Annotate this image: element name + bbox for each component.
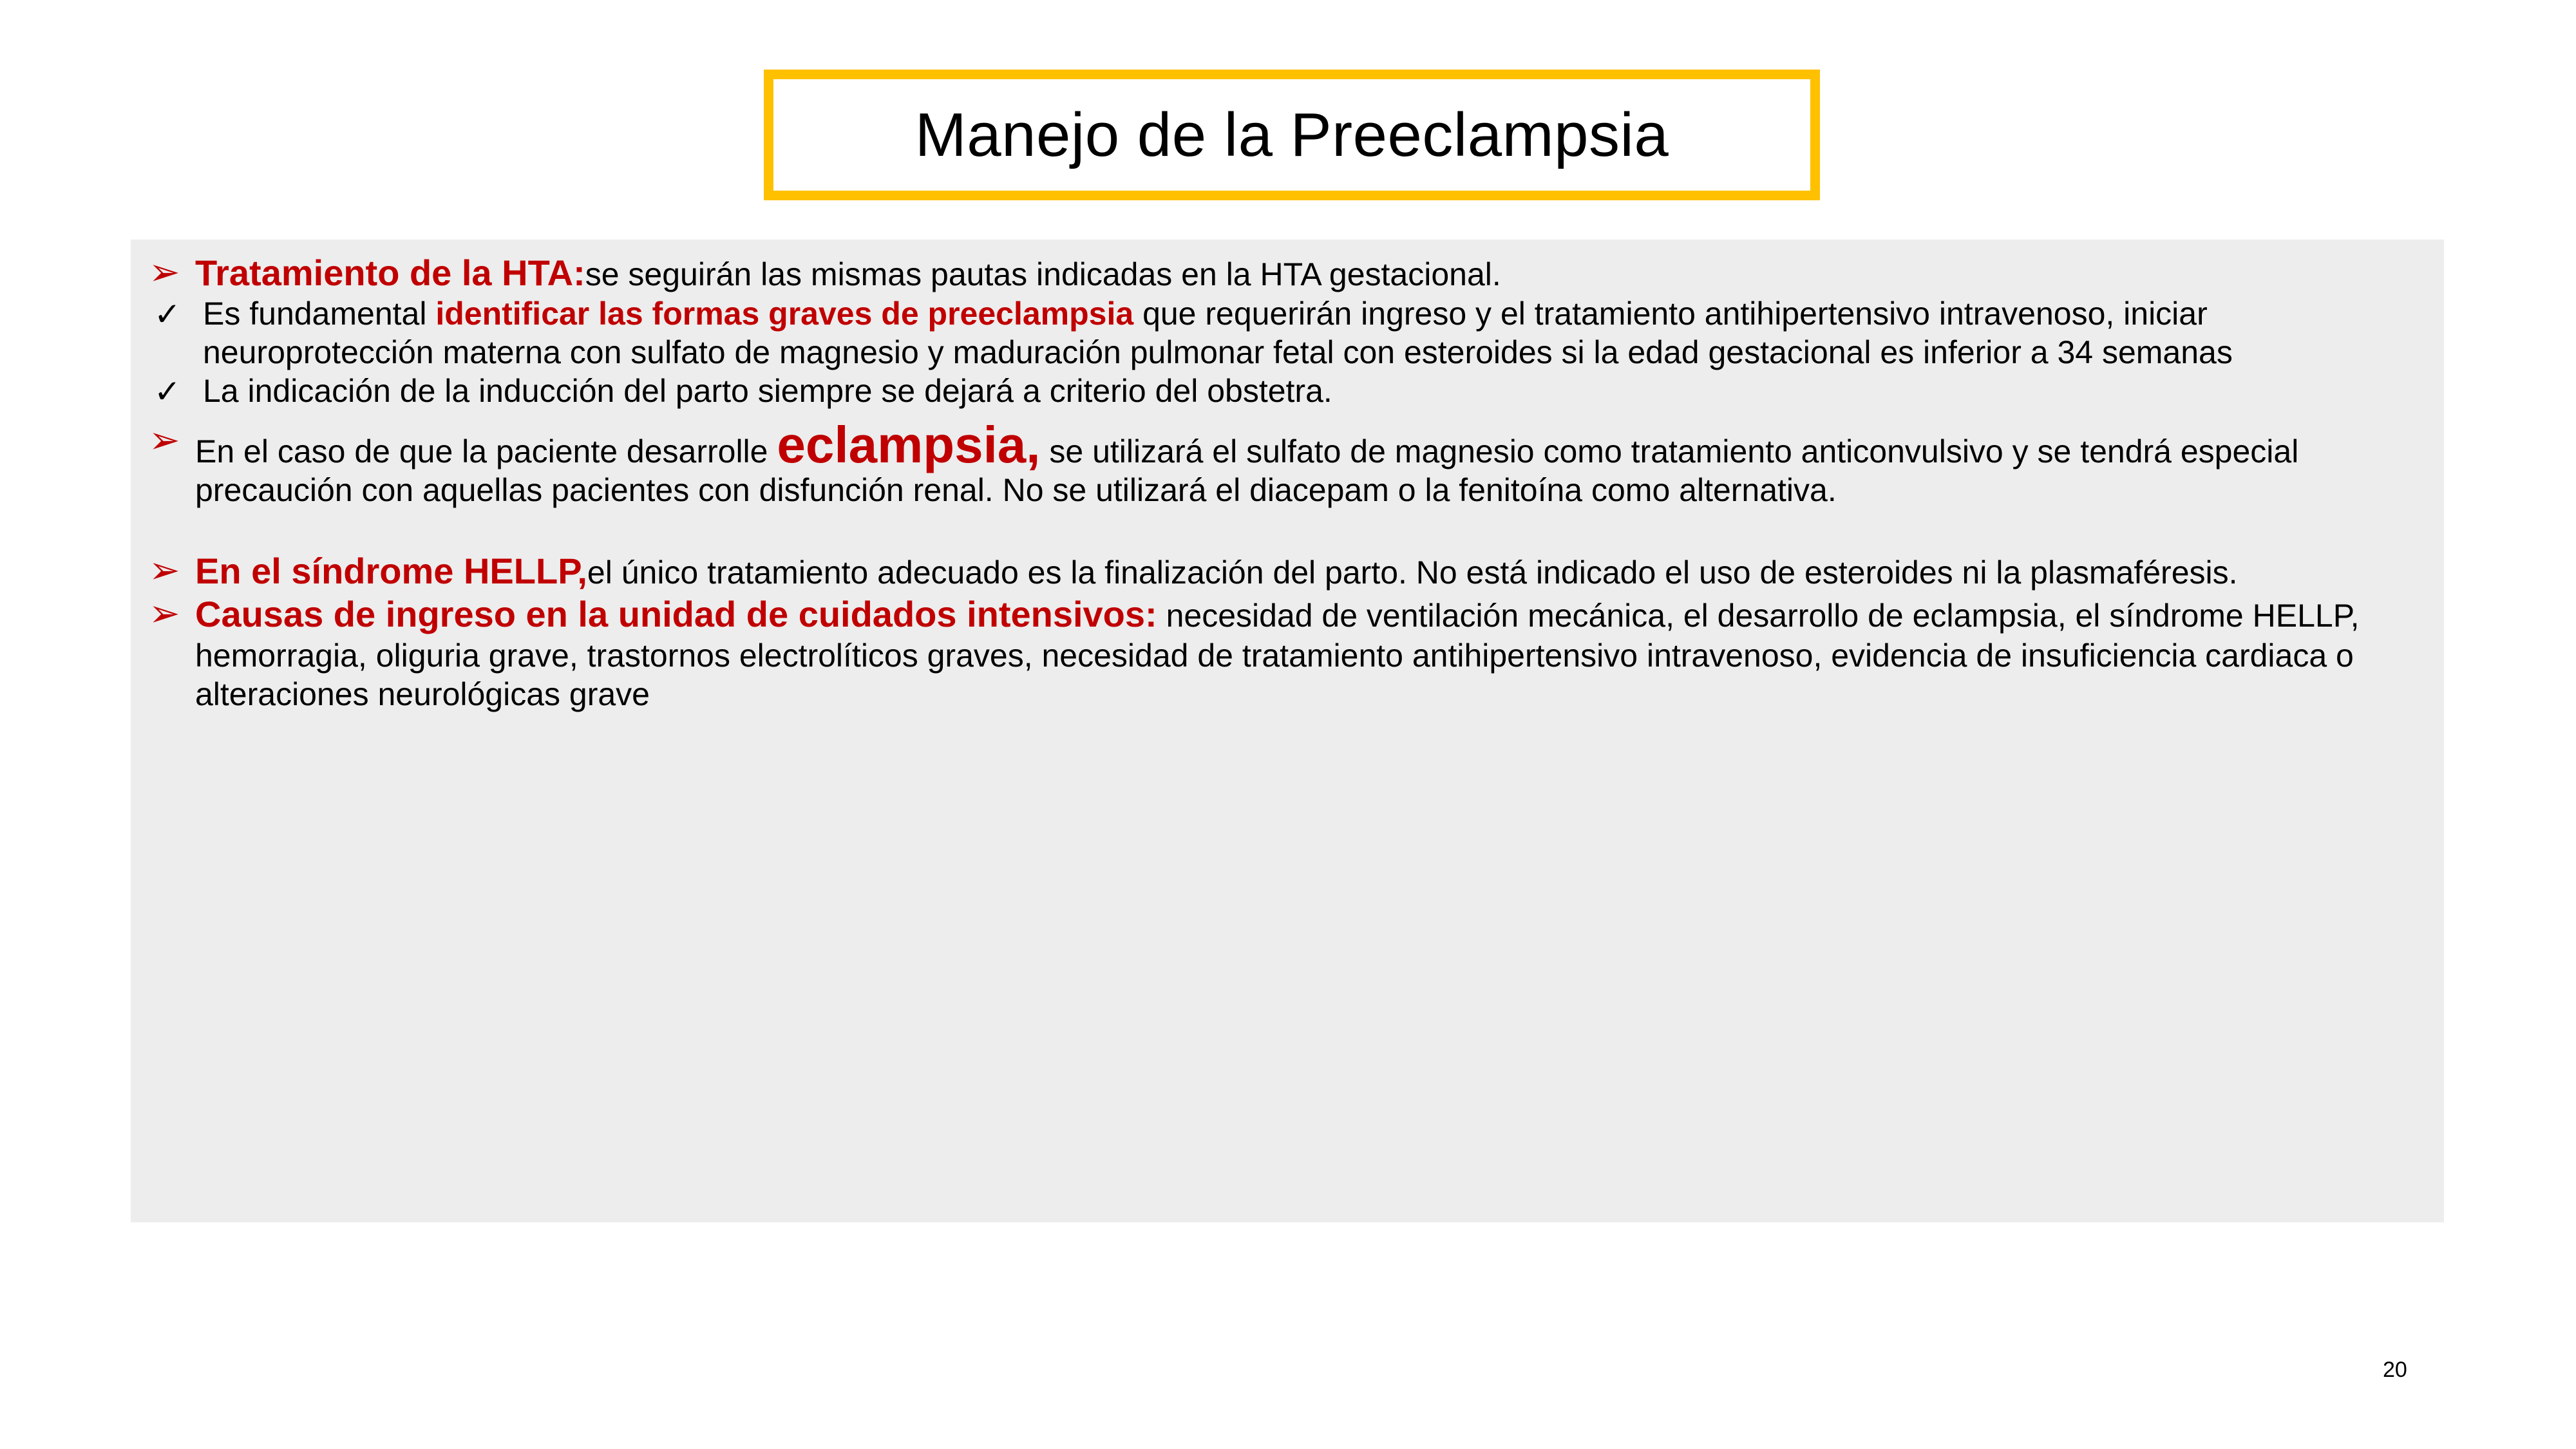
- bullet-item-causas-ingreso-uci: ➢ Causas de ingreso en la unidad de cuid…: [149, 592, 2426, 713]
- bullet-item-tratamiento-hta: ➢ Tratamiento de la HTA:se seguirán las …: [149, 251, 2426, 294]
- bullet-item-sindrome-hellp: ➢ En el síndrome HELLP,el único tratamie…: [149, 549, 2426, 592]
- content-panel: ➢ Tratamiento de la HTA:se seguirán las …: [131, 240, 2444, 1222]
- bullet-item-eclampsia: ➢ En el caso de que la paciente desarrol…: [149, 419, 2426, 509]
- text-induccion-parto: La indicación de la inducción del parto …: [203, 373, 1332, 409]
- heading-sindrome-hellp: En el síndrome HELLP,: [195, 551, 587, 591]
- arrow-bullet-icon: ➢: [149, 549, 195, 589]
- page-title: Manejo de la Preeclampsia: [915, 104, 1669, 166]
- heading-tratamiento-hta: Tratamiento de la HTA:: [195, 252, 585, 293]
- arrow-bullet-icon: ➢: [149, 251, 195, 291]
- check-bullet-icon: ✓: [149, 372, 203, 408]
- slide-title-box: Manejo de la Preeclampsia: [764, 70, 1820, 200]
- spacer: [149, 509, 2426, 549]
- arrow-bullet-icon: ➢: [149, 592, 195, 632]
- text-es-fundamental-lead: Es fundamental: [203, 296, 435, 332]
- heading-causas-ingreso-uci: Causas de ingreso en la unidad de cuidad…: [195, 594, 1157, 634]
- text-tratamiento-hta-body: se seguirán las mismas pautas indicadas …: [585, 256, 1501, 292]
- spacer: [149, 410, 2426, 419]
- check-item-formas-graves: ✓ Es fundamental identificar las formas …: [149, 294, 2426, 372]
- text-sindrome-hellp-body: el único tratamiento adecuado es la fina…: [587, 554, 2238, 591]
- text-eclampsia-lead: En el caso de que la paciente desarrolle: [195, 433, 777, 469]
- highlight-identificar-formas-graves: identificar las formas graves de preecla…: [435, 296, 1133, 332]
- check-item-induccion-parto: ✓ La indicación de la inducción del part…: [149, 372, 2426, 410]
- page-number: 20: [2383, 1358, 2407, 1383]
- highlight-eclampsia: eclampsia,: [777, 416, 1040, 473]
- check-bullet-icon: ✓: [149, 294, 203, 330]
- arrow-bullet-icon: ➢: [149, 419, 195, 459]
